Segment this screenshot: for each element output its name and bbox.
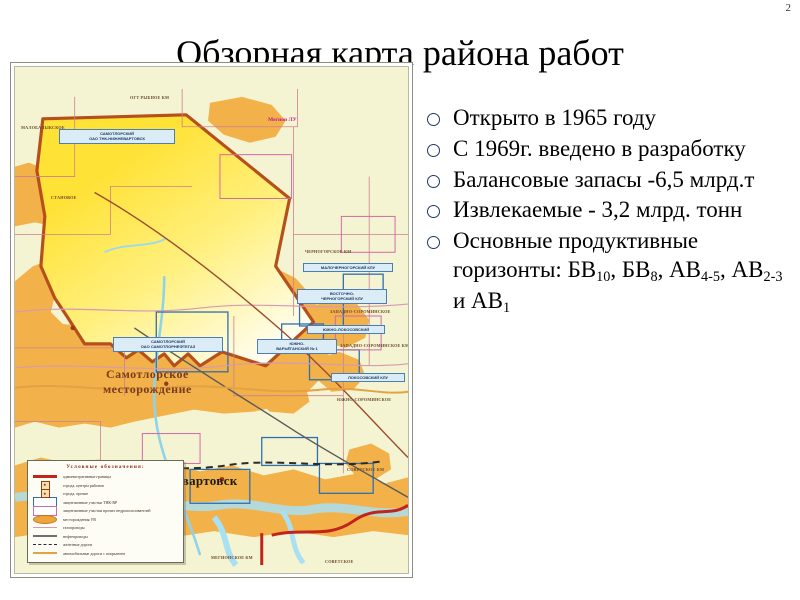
legend-item: города, прочие — [32, 490, 179, 497]
list-item[interactable]: Открыто в 1965 году — [427, 104, 787, 133]
legend-item: железные дороги — [32, 541, 179, 548]
legend-swatch-icon — [32, 533, 58, 540]
legend-swatch-icon — [32, 490, 58, 497]
overview-map[interactable]: Самотлорское месторождение Нижневартовск… — [10, 62, 413, 578]
list-item[interactable]: С 1969г. введено в разработку — [427, 135, 787, 164]
callout-6-line1: ЛОКОСОВСКИЙ КЛУ — [334, 375, 402, 380]
legend-item-label: железные дороги — [63, 542, 92, 547]
list-item[interactable]: Основные продуктивные горизонты: БВ10, Б… — [427, 227, 787, 317]
legend-item-label: города, центры районов — [63, 483, 104, 488]
bullet-text-1: С 1969г. введено в разработку — [453, 135, 787, 164]
map-callout-1[interactable]: МАЛОЧЕРНОГОРСКИЙ КЛУ — [303, 263, 393, 272]
bullet-circle-icon — [427, 205, 440, 218]
legend-item-label: административные границы — [63, 474, 111, 479]
legend-item: автомобильные дороги с покрытием — [32, 550, 179, 557]
callout-1-line1: МАЛОЧЕРНОГОРСКИЙ КЛУ — [306, 265, 390, 270]
legend-swatch-icon — [32, 473, 58, 480]
legend-item-label: автомобильные дороги с покрытием — [63, 551, 125, 556]
callout-0-line2: ОАО ТНК-НИЖНЕВАРТОВСК — [62, 136, 172, 141]
map-callout-0[interactable]: САМОТЛОРСКИЙ ОАО ТНК-НИЖНЕВАРТОВСК — [59, 129, 175, 144]
bullet-circle-icon — [427, 113, 440, 126]
legend-swatch-icon — [32, 499, 58, 506]
bullet-circle-icon — [427, 144, 440, 157]
callout-5-line2: ВАРЬЁГАНСКИЙ № 1 — [260, 346, 334, 351]
list-item[interactable]: Извлекаемые - 3,2 млрд. тонн — [427, 196, 787, 225]
legend-rows: административные границыгорода, центры р… — [32, 473, 179, 557]
legend-item-label: лицензионные участки ТНК-ВР — [63, 500, 117, 505]
legend-item: лицензионные участки прочих недропользов… — [32, 507, 179, 514]
callout-3-line1: ЮЖНО-ЛОКОСОВСКИЙ — [310, 327, 382, 332]
legend-item: города, центры районов — [32, 482, 179, 489]
legend-item: нефтепроводы — [32, 533, 179, 540]
legend-item: месторождения УВ — [32, 516, 179, 523]
legend-swatch-icon — [32, 516, 58, 523]
legend-swatch-icon — [32, 550, 58, 557]
list-item[interactable]: Балансовые запасы -6,5 млрд.т — [427, 166, 787, 195]
legend-item-label: газопроводы — [63, 525, 85, 530]
bullet-list: Открыто в 1965 году С 1969г. введено в р… — [427, 104, 787, 319]
legend-swatch-icon — [32, 507, 58, 514]
map-callout-3[interactable]: ЮЖНО-ЛОКОСОВСКИЙ — [307, 325, 385, 334]
page-number: 2 — [786, 2, 792, 14]
map-callout-4[interactable]: САМОТЛОРСКИЙ ОАО САМОТЛОРНЕФТЕГАЗ — [113, 337, 223, 352]
bullet-circle-icon — [427, 175, 440, 188]
bullet-text-0: Открыто в 1965 году — [453, 104, 787, 133]
legend-item: газопроводы — [32, 524, 179, 531]
map-canvas: Самотлорское месторождение Нижневартовск… — [14, 66, 409, 574]
legend-item-label: лицензионные участки прочих недропользов… — [63, 508, 151, 513]
map-callout-5[interactable]: ЮЖНО- ВАРЬЁГАНСКИЙ № 1 — [257, 339, 337, 354]
legend-item-label: города, прочие — [63, 491, 88, 496]
bullet-circle-icon — [427, 236, 440, 249]
callout-4-line2: ОАО САМОТЛОРНЕФТЕГАЗ — [116, 344, 220, 349]
bullet-text-4: Основные продуктивные горизонты: БВ10, Б… — [453, 227, 787, 317]
bullet-text-2: Балансовые запасы -6,5 млрд.т — [453, 166, 787, 195]
legend-item: лицензионные участки ТНК-ВР — [32, 499, 179, 506]
map-legend: Условные обозначения: административные г… — [27, 460, 184, 563]
legend-item: административные границы — [32, 473, 179, 480]
callout-2-line2: ЧЕРНОГОРСКИЙ КЛУ — [300, 296, 384, 301]
bullet-text-3: Извлекаемые - 3,2 млрд. тонн — [453, 196, 787, 225]
legend-title: Условные обозначения: — [32, 464, 179, 470]
legend-swatch-icon — [32, 482, 58, 489]
legend-swatch-icon — [32, 541, 58, 548]
map-callout-2[interactable]: ВОСТОЧНО- ЧЕРНОГОРСКИЙ КЛУ — [297, 289, 387, 304]
map-callout-6[interactable]: ЛОКОСОВСКИЙ КЛУ — [331, 373, 405, 382]
legend-swatch-icon — [32, 524, 58, 531]
legend-item-label: нефтепроводы — [63, 534, 88, 539]
legend-item-label: месторождения УВ — [63, 517, 96, 522]
